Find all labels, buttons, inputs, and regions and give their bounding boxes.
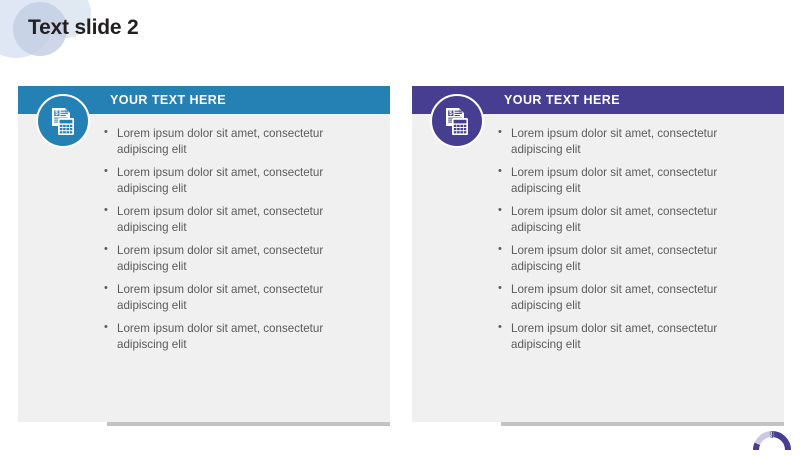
list-item: Lorem ipsum dolor sit amet, consectetur …	[104, 243, 374, 274]
panel-header-title-left: YOUR TEXT HERE	[110, 93, 226, 107]
panel-footer-bar-right	[501, 422, 784, 426]
page-title: Text slide 2	[28, 16, 138, 40]
panel-footer-bar-left	[107, 422, 390, 426]
list-item: Lorem ipsum dolor sit amet, consectetur …	[498, 126, 768, 157]
bullet-list-left: Lorem ipsum dolor sit amet, consectetur …	[104, 126, 374, 352]
panel-body-left: Lorem ipsum dolor sit amet, consectetur …	[18, 114, 390, 422]
panel-body-right: Lorem ipsum dolor sit amet, consectetur …	[412, 114, 784, 422]
content-panel-left: YOUR TEXT HERE $	[18, 86, 390, 426]
list-item: Lorem ipsum dolor sit amet, consectetur …	[104, 204, 374, 235]
list-item: Lorem ipsum dolor sit amet, consectetur …	[498, 321, 768, 352]
list-item: Lorem ipsum dolor sit amet, consectetur …	[104, 126, 374, 157]
invoice-calculator-icon: $	[430, 94, 484, 148]
list-item: Lorem ipsum dolor sit amet, consectetur …	[104, 282, 374, 313]
page-number-text: 9	[751, 430, 793, 441]
list-item: Lorem ipsum dolor sit amet, consectetur …	[498, 282, 768, 313]
list-item: Lorem ipsum dolor sit amet, consectetur …	[498, 243, 768, 274]
bullet-list-right: Lorem ipsum dolor sit amet, consectetur …	[498, 126, 768, 352]
invoice-calculator-icon: $	[36, 94, 90, 148]
panel-header-title-right: YOUR TEXT HERE	[504, 93, 620, 107]
slide-canvas: Text slide 2 YOUR TEXT HERE $	[0, 0, 800, 456]
list-item: Lorem ipsum dolor sit amet, consectetur …	[498, 204, 768, 235]
content-panel-right: YOUR TEXT HERE $	[412, 86, 784, 426]
list-item: Lorem ipsum dolor sit amet, consectetur …	[498, 165, 768, 196]
page-number-badge: 9	[751, 418, 793, 454]
list-item: Lorem ipsum dolor sit amet, consectetur …	[104, 321, 374, 352]
list-item: Lorem ipsum dolor sit amet, consectetur …	[104, 165, 374, 196]
